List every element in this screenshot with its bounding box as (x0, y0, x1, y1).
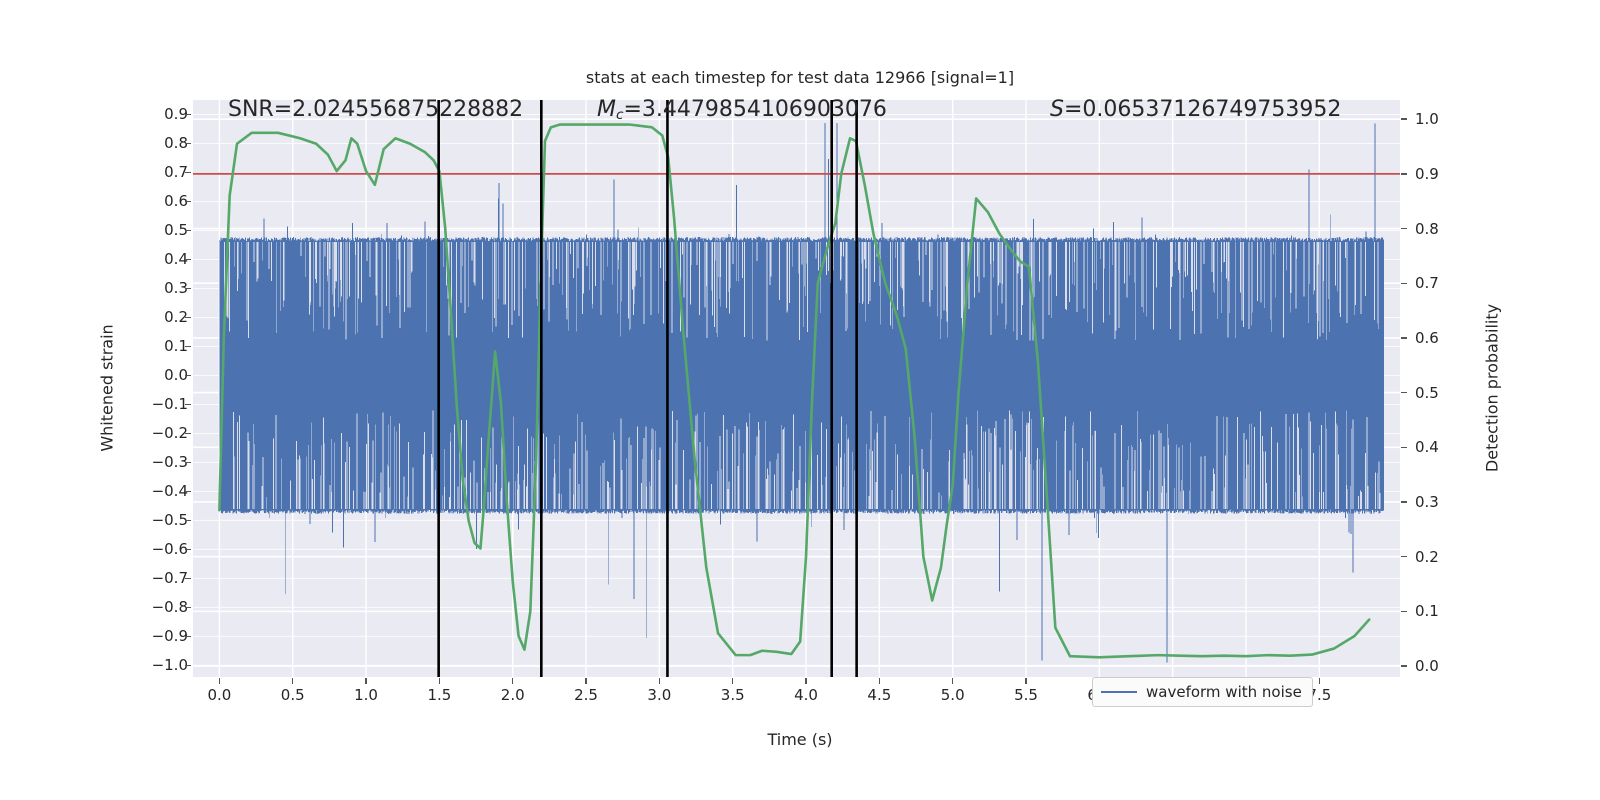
x-axis-tick-mark (219, 678, 220, 684)
x-axis-tick-mark (659, 678, 660, 684)
annotation-chirp-mass: Mc=3.4479854106903076 (597, 97, 887, 123)
y-axis-left-tick-mark (185, 259, 191, 260)
y-axis-right-tick-label: 0.0 (1415, 657, 1439, 675)
y-axis-right-tick-label: 0.1 (1415, 602, 1439, 620)
legend: waveform with noise (1092, 677, 1313, 707)
y-axis-left-tick-mark (185, 549, 191, 550)
y-axis-right-tick-mark (1401, 173, 1407, 174)
y-axis-left-tick-mark (185, 520, 191, 521)
y-axis-left-tick-mark (185, 288, 191, 289)
y-axis-left-label: Whitened strain (98, 324, 117, 451)
y-axis-left-tick-label: −0.9 (152, 627, 188, 645)
y-axis-left-tick-label: −0.4 (152, 482, 188, 500)
y-axis-right-tick-label: 1.0 (1415, 110, 1439, 128)
figure: stats at each timestep for test data 129… (0, 0, 1600, 800)
y-axis-left-tick-mark (185, 172, 191, 173)
x-axis-tick-label: 4.0 (794, 686, 818, 704)
y-axis-right-tick-mark (1401, 611, 1407, 612)
y-axis-left-tick-mark (185, 462, 191, 463)
x-axis-tick-label: 2.5 (574, 686, 598, 704)
y-axis-left-tick-label: −0.2 (152, 424, 188, 442)
y-axis-left-tick-label: −1.0 (152, 656, 188, 674)
y-axis-left-tick-label: −0.7 (152, 569, 188, 587)
y-axis-right-tick-mark (1401, 447, 1407, 448)
y-axis-left-tick-mark (185, 143, 191, 144)
x-axis-tick-label: 3.5 (721, 686, 745, 704)
y-axis-left-tick-mark (185, 578, 191, 579)
x-axis-tick-label: 4.5 (867, 686, 891, 704)
x-axis-tick-label: 1.0 (354, 686, 378, 704)
y-axis-right-tick-mark (1401, 118, 1407, 119)
strain-trace (220, 123, 1384, 662)
x-axis-tick-label: 5.5 (1014, 686, 1038, 704)
x-axis-tick-mark (1319, 678, 1320, 684)
legend-label-waveform: waveform with noise (1146, 683, 1302, 701)
y-axis-left-tick-mark (185, 607, 191, 608)
y-axis-right-tick-label: 0.7 (1415, 274, 1439, 292)
x-axis-tick-mark (879, 678, 880, 684)
x-axis-tick-mark (512, 678, 513, 684)
y-axis-left-tick-label: −0.5 (152, 511, 188, 529)
y-axis-right-tick-label: 0.2 (1415, 548, 1439, 566)
y-axis-left-tick-label: −0.1 (152, 395, 188, 413)
y-axis-right-tick-label: 0.9 (1415, 165, 1439, 183)
x-axis-tick-mark (805, 678, 806, 684)
y-axis-right-tick-mark (1401, 665, 1407, 666)
x-axis-tick-mark (1025, 678, 1026, 684)
x-axis-tick-mark (732, 678, 733, 684)
y-axis-right-label: Detection probability (1483, 304, 1502, 472)
x-axis-tick-label: 5.0 (941, 686, 965, 704)
y-axis-left-tick-mark (185, 491, 191, 492)
y-axis-left-tick-mark (185, 404, 191, 405)
y-axis-right-tick-mark (1401, 337, 1407, 338)
y-axis-right-tick-label: 0.4 (1415, 438, 1439, 456)
y-axis-right-tick-label: 0.6 (1415, 329, 1439, 347)
y-axis-left-tick-label: −0.8 (152, 598, 188, 616)
y-axis-left-tick-mark (185, 636, 191, 637)
y-axis-left-tick-mark (185, 114, 191, 115)
y-axis-right-tick-label: 0.8 (1415, 220, 1439, 238)
y-axis-left-tick-mark (185, 346, 191, 347)
x-axis-tick-label: 2.0 (501, 686, 525, 704)
y-axis-right-tick-mark (1401, 228, 1407, 229)
x-axis-tick-label: 0.5 (281, 686, 305, 704)
y-axis-left-tick-mark (185, 201, 191, 202)
strain-series (220, 123, 1384, 662)
plot-area (193, 100, 1400, 677)
y-axis-left-tick-label: −0.3 (152, 453, 188, 471)
x-axis-tick-mark (292, 678, 293, 684)
x-axis-tick-label: 1.5 (427, 686, 451, 704)
y-axis-left-tick-mark (185, 375, 191, 376)
x-axis-tick-label: 0.0 (207, 686, 231, 704)
x-axis-label: Time (s) (0, 730, 1600, 749)
legend-line-swatch (1101, 691, 1137, 693)
y-axis-left-tick-mark (185, 317, 191, 318)
x-axis-tick-mark (365, 678, 366, 684)
y-axis-left-tick-mark (185, 230, 191, 231)
y-axis-right-tick-label: 0.3 (1415, 493, 1439, 511)
x-axis-tick-mark (952, 678, 953, 684)
plot-canvas (193, 100, 1400, 677)
y-axis-right-tick-mark (1401, 392, 1407, 393)
annotation-significance: S=0.06537126749753952 (1050, 97, 1341, 122)
chart-title: stats at each timestep for test data 129… (0, 68, 1600, 87)
annotation-snr: SNR=2.024556875228882 (228, 97, 523, 122)
y-axis-left-tick-mark (185, 433, 191, 434)
y-axis-right-tick-mark (1401, 501, 1407, 502)
y-axis-right-tick-label: 0.5 (1415, 384, 1439, 402)
x-axis-tick-mark (439, 678, 440, 684)
x-axis-tick-label: 3.0 (647, 686, 671, 704)
y-axis-right-tick-mark (1401, 283, 1407, 284)
y-axis-left-tick-label: −0.6 (152, 540, 188, 558)
x-axis-tick-mark (585, 678, 586, 684)
y-axis-left-tick-mark (185, 665, 191, 666)
y-axis-right-tick-mark (1401, 556, 1407, 557)
